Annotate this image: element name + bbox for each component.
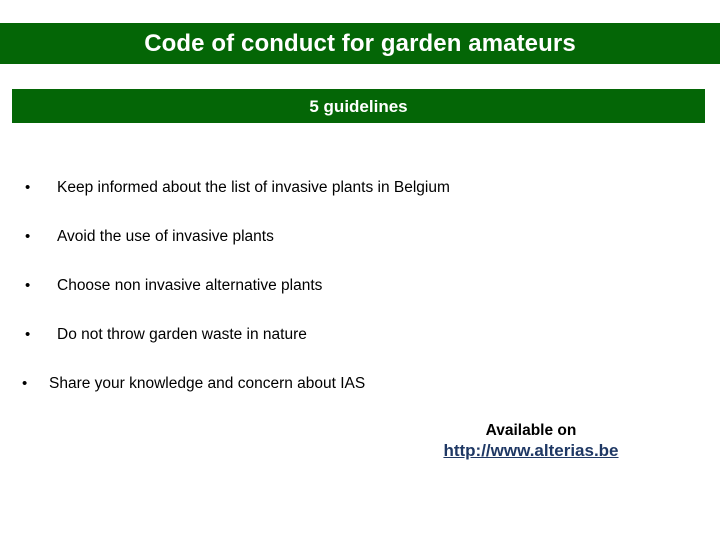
list-item: • Share your knowledge and concern about… <box>0 359 720 408</box>
bullet-icon: • <box>25 180 35 195</box>
list-item-label: Avoid the use of invasive plants <box>57 228 274 246</box>
bullet-icon: • <box>22 376 32 391</box>
list-item-label: Do not throw garden waste in nature <box>57 326 307 344</box>
title-banner: Code of conduct for garden amateurs <box>0 23 720 64</box>
list-item: • Avoid the use of invasive plants <box>0 212 720 261</box>
subtitle-label: 5 guidelines <box>309 98 407 115</box>
list-item: • Choose non invasive alternative plants <box>0 261 720 310</box>
list-item: • Keep informed about the list of invasi… <box>0 163 720 212</box>
available-on-label: Available on <box>398 421 664 440</box>
bullet-icon: • <box>25 278 35 293</box>
bullet-icon: • <box>25 229 35 244</box>
list-item: • Do not throw garden waste in nature <box>0 310 720 359</box>
guidelines-list: • Keep informed about the list of invasi… <box>0 163 720 408</box>
list-item-label: Choose non invasive alternative plants <box>57 277 322 295</box>
list-item-label: Keep informed about the list of invasive… <box>57 179 450 197</box>
availability-block: Available on http://www.alterias.be <box>398 421 664 463</box>
bullet-icon: • <box>25 327 35 342</box>
website-link[interactable]: http://www.alterias.be <box>398 440 664 463</box>
subtitle-banner: 5 guidelines <box>12 89 705 123</box>
page-title: Code of conduct for garden amateurs <box>144 32 576 56</box>
list-item-label: Share your knowledge and concern about I… <box>49 375 365 393</box>
slide-canvas: Code of conduct for garden amateurs 5 gu… <box>0 0 720 540</box>
